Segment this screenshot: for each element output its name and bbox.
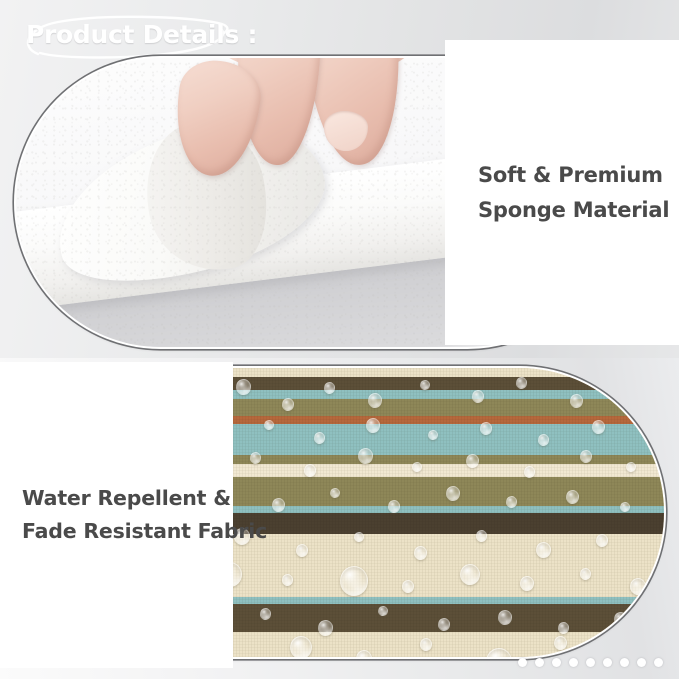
pagination-dot[interactable]: [603, 658, 612, 667]
sponge-caption-line-2: Sponge Material: [478, 193, 679, 227]
water-droplet: [414, 546, 427, 560]
water-droplet: [538, 434, 549, 446]
water-droplet: [614, 384, 624, 394]
water-droplet: [282, 398, 294, 411]
water-droplet: [420, 380, 430, 390]
water-droplet: [412, 462, 422, 472]
water-droplet: [570, 394, 583, 408]
water-droplet: [260, 608, 271, 620]
fabric-caption-line-2: Fade Resistant Fabric: [22, 515, 233, 548]
water-droplet: [272, 498, 285, 512]
water-droplet: [340, 566, 368, 596]
water-droplet: [378, 606, 388, 616]
water-droplet: [368, 393, 382, 408]
water-droplet: [608, 646, 626, 657]
pagination-dot[interactable]: [586, 658, 595, 667]
water-droplet: [236, 379, 251, 395]
water-droplet: [524, 466, 535, 478]
water-droplet: [472, 390, 484, 403]
water-droplet: [402, 580, 414, 593]
pagination-dot[interactable]: [569, 658, 578, 667]
water-droplet: [290, 636, 312, 657]
pagination-dot[interactable]: [518, 658, 527, 667]
water-droplet: [536, 542, 551, 558]
sponge-caption-panel: Soft & Premium Sponge Material: [445, 40, 679, 345]
page-title-text: Product Details :: [26, 20, 257, 49]
pagination-dot[interactable]: [637, 658, 646, 667]
water-droplet: [438, 618, 450, 631]
water-droplet: [516, 377, 527, 389]
pagination-dot[interactable]: [552, 658, 561, 667]
water-droplet: [520, 576, 534, 591]
water-droplet: [630, 578, 646, 595]
water-droplet: [324, 382, 335, 394]
water-droplet: [580, 450, 592, 463]
water-droplet: [596, 534, 608, 547]
pagination-dot[interactable]: [654, 658, 663, 667]
water-droplet: [304, 464, 316, 477]
pagination-dots[interactable]: [518, 658, 663, 667]
water-droplet: [318, 620, 333, 636]
water-droplet: [466, 454, 479, 468]
pagination-dot[interactable]: [535, 658, 544, 667]
water-droplet: [314, 432, 325, 444]
water-droplet: [554, 636, 567, 650]
water-droplet: [506, 496, 517, 508]
water-droplet: [282, 574, 293, 586]
water-droplet: [358, 448, 373, 464]
water-droplet: [592, 420, 605, 434]
water-droplet: [366, 418, 380, 433]
water-droplet: [626, 462, 636, 472]
water-droplet: [250, 452, 261, 464]
water-droplet: [356, 650, 372, 657]
water-droplet: [420, 638, 432, 651]
water-droplet: [264, 420, 274, 430]
water-droplet: [558, 622, 569, 634]
water-droplet: [446, 486, 460, 501]
water-droplet: [460, 564, 480, 585]
fabric-caption-line-1: Water Repellent &: [22, 482, 233, 515]
finger: [170, 58, 266, 180]
water-droplet: [428, 430, 438, 440]
water-droplet: [330, 488, 340, 498]
water-droplet: [580, 568, 591, 580]
product-details-image: Product Details :: [0, 0, 679, 679]
water-droplet: [388, 500, 400, 513]
water-droplet: [486, 648, 512, 657]
water-droplet: [476, 530, 487, 542]
water-droplet: [620, 502, 630, 512]
water-droplet: [480, 422, 492, 435]
page-title: Product Details :: [14, 14, 244, 60]
pagination-dot[interactable]: [620, 658, 629, 667]
fabric-caption-panel: Water Repellent & Fade Resistant Fabric: [0, 362, 233, 668]
water-droplet: [498, 610, 512, 625]
water-droplet: [354, 532, 364, 542]
sponge-caption-line-1: Soft & Premium: [478, 158, 679, 192]
water-droplet: [296, 544, 308, 557]
water-droplet: [566, 490, 579, 504]
hand: [171, 58, 445, 179]
water-droplet: [614, 612, 627, 626]
